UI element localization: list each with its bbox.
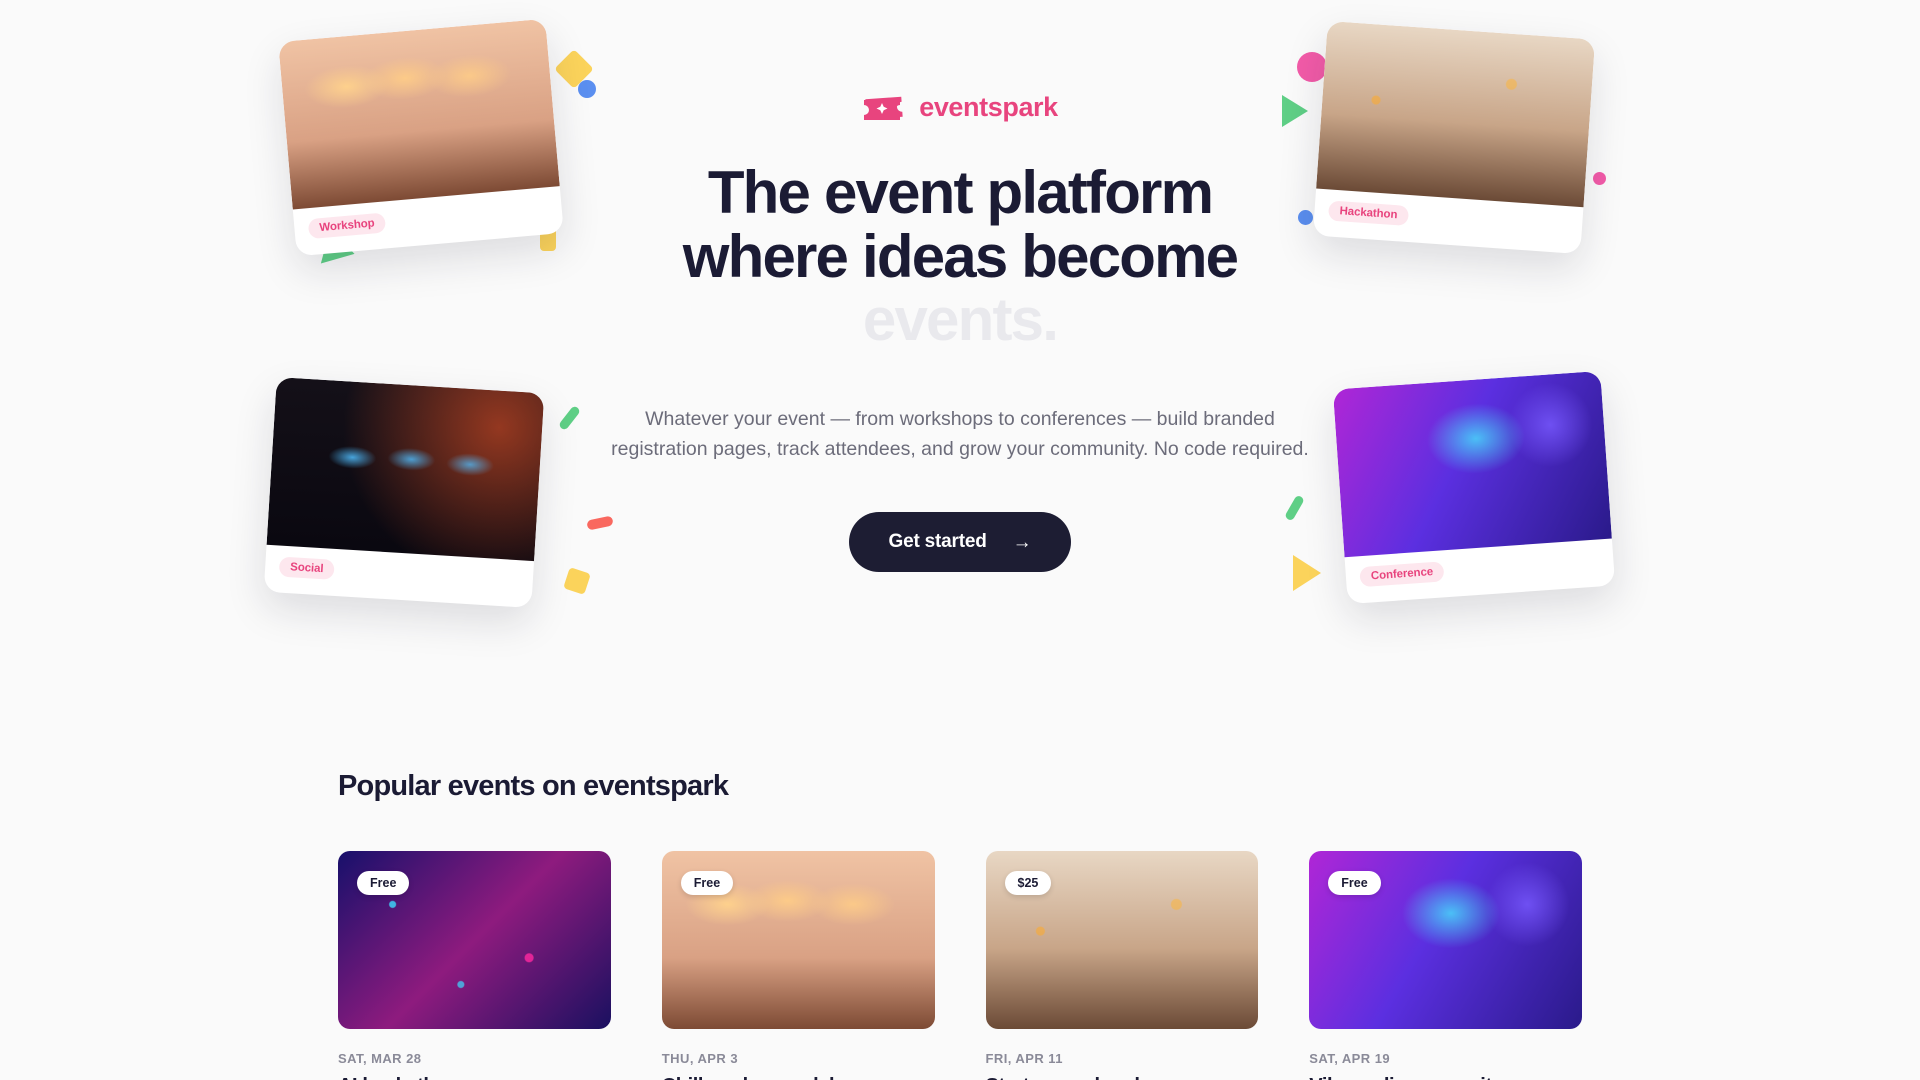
- event-title: Vibe coding summit: [1309, 1075, 1582, 1080]
- floating-card-social[interactable]: Social: [264, 377, 545, 608]
- headline-line-1: The event platform: [580, 161, 1340, 225]
- floating-card-image: [1333, 371, 1612, 557]
- hero-content: eventspark The event platform where idea…: [580, 92, 1340, 572]
- brand-logo[interactable]: eventspark: [580, 92, 1340, 123]
- get-started-label: Get started: [889, 531, 987, 553]
- events-grid: Free SAT, MAR 28 AI hackathon Free THU, …: [338, 851, 1582, 1080]
- popular-events-section: Popular events on eventspark Free SAT, M…: [0, 770, 1920, 1080]
- headline-line-3: events.: [580, 288, 1340, 352]
- floating-card-image: [1316, 21, 1595, 207]
- pink-dot-small-icon: [1593, 172, 1606, 185]
- price-badge: Free: [1328, 871, 1380, 895]
- pink-dot-icon: [1297, 52, 1327, 82]
- hero-subtitle: Whatever your event — from workshops to …: [580, 404, 1340, 464]
- event-card[interactable]: Free THU, APR 3 Chill workspace lab: [662, 851, 935, 1080]
- ticket-icon: [862, 93, 906, 123]
- event-card-image: Free: [338, 851, 611, 1029]
- floating-card-tag: Workshop: [308, 212, 387, 239]
- cta-container: Get started →: [580, 512, 1340, 572]
- floating-card-tag: Hackathon: [1328, 200, 1409, 226]
- event-date: THU, APR 3: [662, 1051, 935, 1066]
- floating-card-conference[interactable]: Conference: [1333, 371, 1615, 604]
- event-card[interactable]: Free SAT, MAR 28 AI hackathon: [338, 851, 611, 1080]
- event-title: AI hackathon: [338, 1075, 611, 1080]
- event-date: FRI, APR 11: [986, 1051, 1259, 1066]
- event-date: SAT, APR 19: [1309, 1051, 1582, 1066]
- event-card[interactable]: $25 FRI, APR 11 Startup weekend: [986, 851, 1259, 1080]
- event-title: Startup weekend: [986, 1075, 1259, 1080]
- headline-line-2: where ideas become: [580, 225, 1340, 289]
- event-card-image: Free: [1309, 851, 1582, 1029]
- get-started-button[interactable]: Get started →: [849, 512, 1072, 572]
- floating-card-tag: Conference: [1359, 561, 1444, 587]
- price-badge: Free: [357, 871, 409, 895]
- event-card[interactable]: Free SAT, APR 19 Vibe coding summit: [1309, 851, 1582, 1080]
- event-date: SAT, MAR 28: [338, 1051, 611, 1066]
- floating-card-image: [267, 377, 545, 561]
- hero-section: Workshop Hackathon Social Conference eve…: [0, 0, 1920, 700]
- brand-name: eventspark: [919, 92, 1058, 123]
- floating-card-hackathon[interactable]: Hackathon: [1313, 21, 1595, 254]
- page-title: The event platform where ideas become ev…: [580, 161, 1340, 352]
- arrow-right-icon: →: [1013, 533, 1032, 552]
- floating-card-tag: Social: [279, 557, 335, 580]
- event-card-image: Free: [662, 851, 935, 1029]
- floating-card-image: [278, 19, 560, 210]
- green-slash-icon: [558, 405, 581, 431]
- popular-events-title: Popular events on eventspark: [338, 770, 1582, 803]
- event-card-image: $25: [986, 851, 1259, 1029]
- floating-card-workshop[interactable]: Workshop: [278, 19, 564, 257]
- event-title: Chill workspace lab: [662, 1075, 935, 1080]
- price-badge: $25: [1005, 871, 1052, 895]
- price-badge: Free: [681, 871, 733, 895]
